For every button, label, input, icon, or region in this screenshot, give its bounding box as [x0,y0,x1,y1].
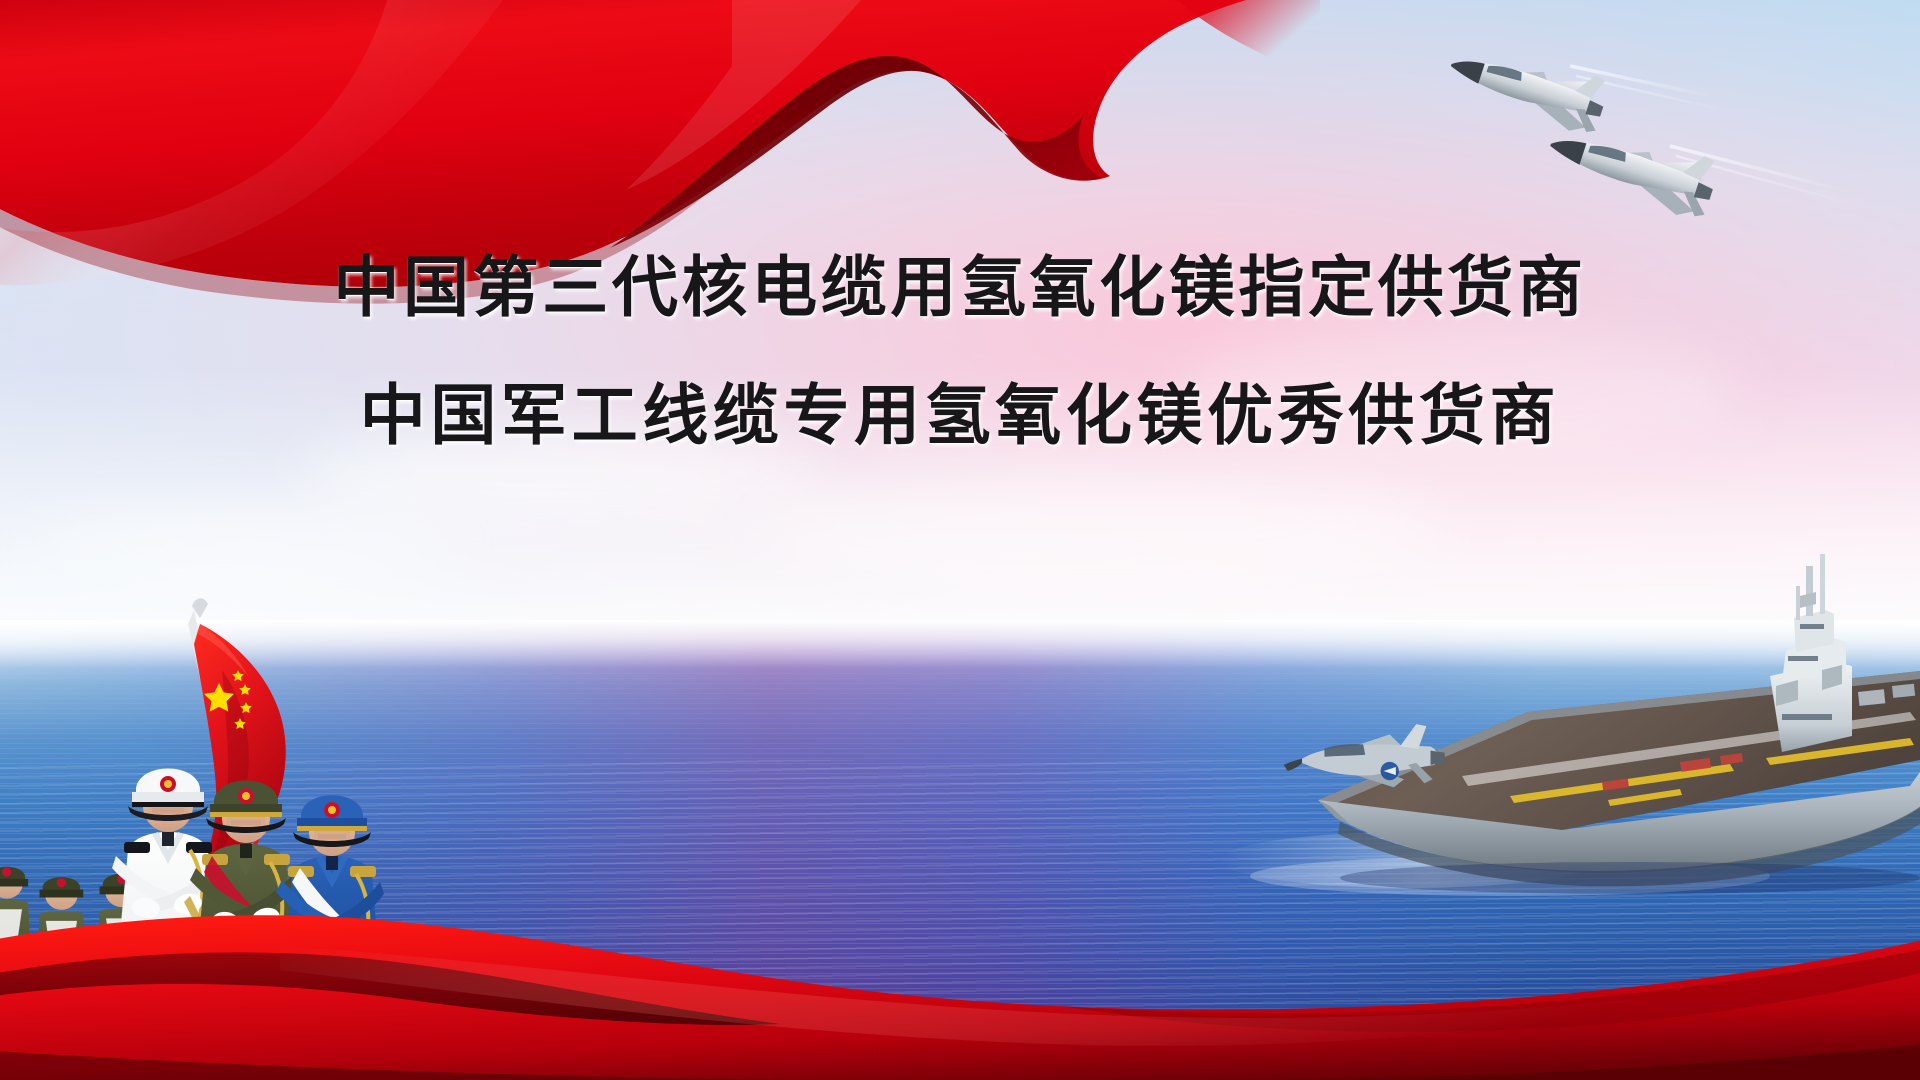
poster-canvas: 中国第三代核电缆用氢氧化镁指定供货商 中国军工线缆专用氢氧化镁优秀供货商 [0,0,1920,1080]
bottom-red-flag [0,850,1920,1080]
aircraft-carrier [1210,500,1920,900]
jet-contrails [1570,66,1860,206]
fighter-jets-group [1420,20,1900,240]
fighter-jet-1 [1443,32,1612,139]
carrier-island [1770,554,1852,752]
top-red-flag [0,0,1320,320]
deck-fighter-jet [1284,724,1445,787]
